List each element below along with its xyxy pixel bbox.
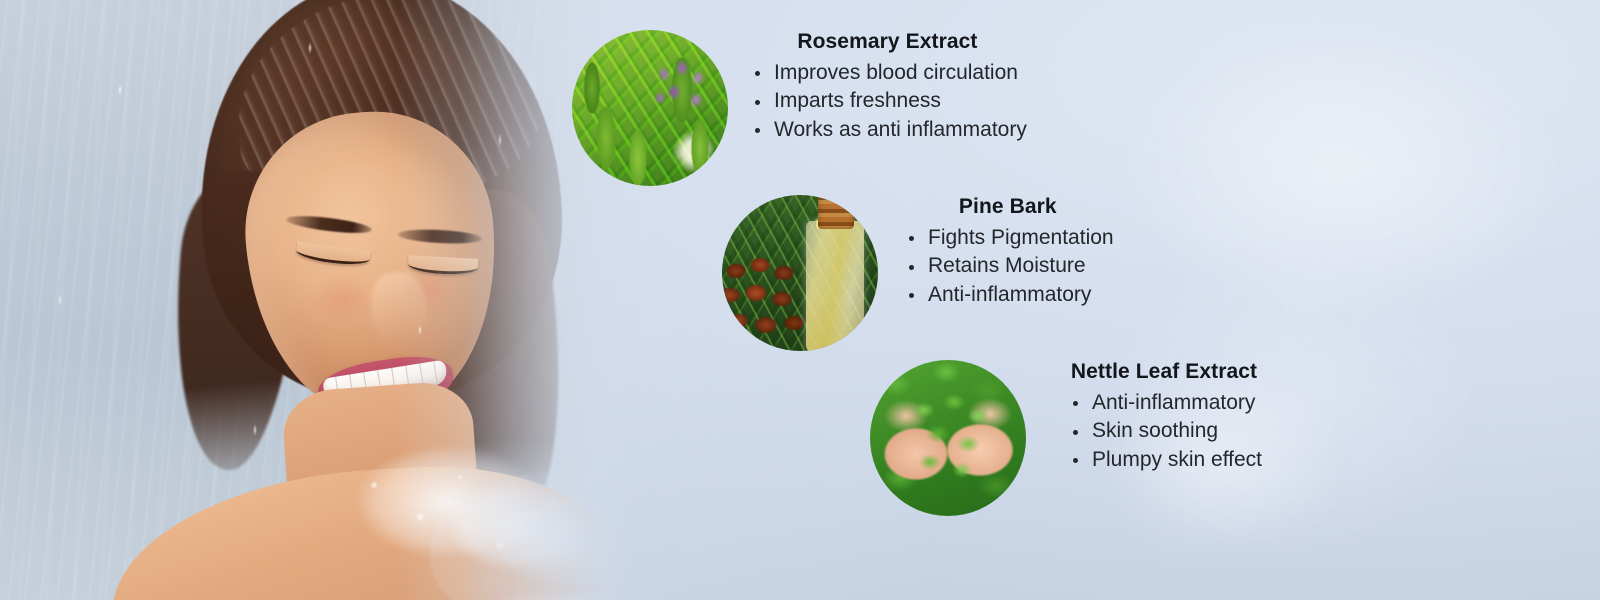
list-item: Improves blood circulation bbox=[748, 59, 1027, 88]
list-item: Anti-inflammatory bbox=[1066, 389, 1262, 418]
cork-stopper bbox=[818, 195, 854, 229]
pine-bark-text-block: Pine Bark Fights Pigmentation Retains Mo… bbox=[902, 195, 1114, 309]
pine-cone-and-oil-bottle-photo bbox=[722, 195, 878, 351]
rosemary-text-block: Rosemary Extract Improves blood circulat… bbox=[748, 30, 1027, 144]
rosemary-title: Rosemary Extract bbox=[748, 30, 1027, 55]
ingredient-row-pine-bark: Pine Bark Fights Pigmentation Retains Mo… bbox=[722, 195, 1114, 351]
oil-bottle bbox=[806, 221, 864, 351]
list-item: Skin soothing bbox=[1066, 417, 1262, 446]
list-item: Retains Moisture bbox=[902, 252, 1114, 281]
ingredient-row-rosemary: Rosemary Extract Improves blood circulat… bbox=[572, 30, 1027, 186]
nettle-leaf-sprig bbox=[904, 390, 996, 482]
rosemary-plant-with-purple-flower-photo bbox=[572, 30, 728, 186]
list-item: Works as anti inflammatory bbox=[748, 116, 1027, 145]
ingredient-benefits-banner: Rosemary Extract Improves blood circulat… bbox=[0, 0, 1600, 600]
list-item: Fights Pigmentation bbox=[902, 224, 1114, 253]
nettle-leaf-title: Nettle Leaf Extract bbox=[1066, 360, 1262, 385]
rosemary-benefit-list: Improves blood circulation Imparts fresh… bbox=[748, 59, 1027, 145]
ingredient-row-nettle-leaf: Nettle Leaf Extract Anti-inflammatory Sk… bbox=[870, 360, 1262, 516]
list-item: Anti-inflammatory bbox=[902, 281, 1114, 310]
list-item: Plumpy skin effect bbox=[1066, 446, 1262, 475]
rosemary-purple-flower bbox=[648, 58, 718, 120]
nettle-leaf-benefit-list: Anti-inflammatory Skin soothing Plumpy s… bbox=[1066, 389, 1262, 475]
pine-bark-benefit-list: Fights Pigmentation Retains Moisture Ant… bbox=[902, 224, 1114, 310]
pine-bark-title: Pine Bark bbox=[902, 195, 1114, 220]
nettle-leaf-text-block: Nettle Leaf Extract Anti-inflammatory Sk… bbox=[1066, 360, 1262, 474]
hands-holding-nettle-leaves-photo bbox=[870, 360, 1026, 516]
photo-fade-edge bbox=[0, 0, 640, 600]
hero-photo bbox=[0, 0, 640, 600]
list-item: Imparts freshness bbox=[748, 87, 1027, 116]
